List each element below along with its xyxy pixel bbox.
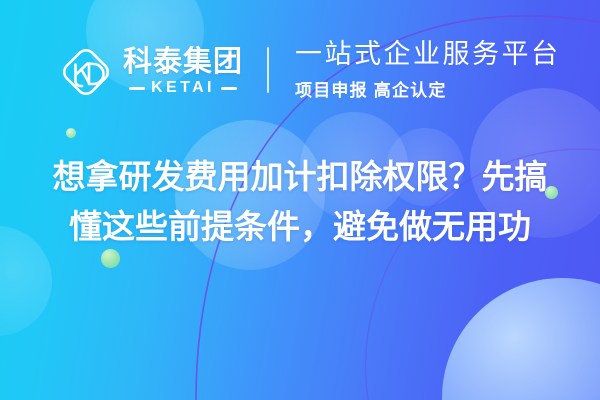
promo-banner: 科泰集团 KETAI 一站式企业服务平台 项目申报 高企认定 想拿研发费用加计扣… xyxy=(0,0,600,400)
tagline-primary: 一站式企业服务平台 xyxy=(295,39,561,69)
brand-en-row: KETAI xyxy=(123,79,243,97)
brand-text: 科泰集团 KETAI xyxy=(123,47,243,98)
tagline-block: 一站式企业服务平台 项目申报 高企认定 xyxy=(295,39,561,100)
banner-header: 科泰集团 KETAI 一站式企业服务平台 项目申报 高企认定 xyxy=(0,0,600,140)
headline-line-1: 想拿研发费用加计扣除权限？先搞 xyxy=(20,152,580,202)
tagline-secondary: 项目申报 高企认定 xyxy=(295,76,561,101)
brand-name-cn: 科泰集团 xyxy=(123,47,243,78)
headline-line-2: 懂这些前提条件，避免做无用功 xyxy=(20,202,580,252)
ketai-diamond-kd-logo-icon xyxy=(58,44,114,100)
brand-rule-right xyxy=(221,87,237,90)
brand-lockup: 科泰集团 KETAI xyxy=(58,44,243,100)
brand-rule-left xyxy=(129,87,145,90)
brand-name-en: KETAI xyxy=(151,79,215,97)
header-divider xyxy=(267,47,269,93)
headline-block: 想拿研发费用加计扣除权限？先搞 懂这些前提条件，避免做无用功 xyxy=(0,152,600,252)
